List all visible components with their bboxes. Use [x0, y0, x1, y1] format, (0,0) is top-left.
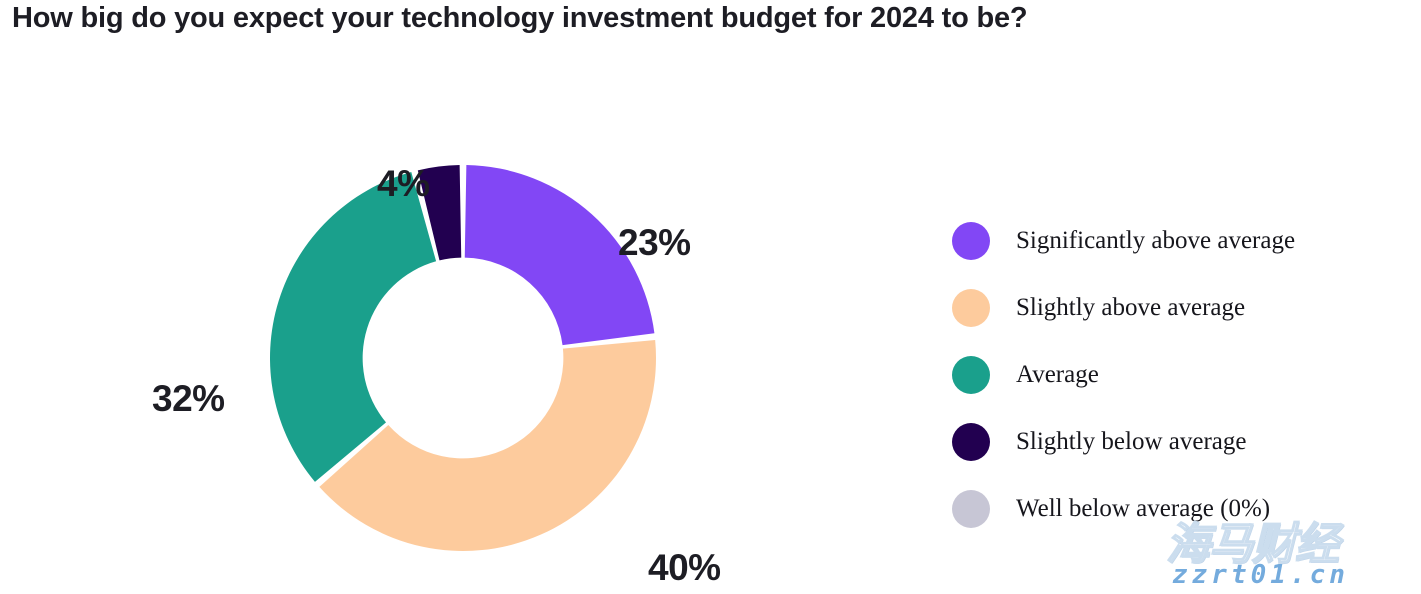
legend-item-label: Average [1016, 362, 1099, 387]
legend-item[interactable]: Significantly above average [952, 207, 1412, 274]
slice-value-label-slightly-below-average: 4% [377, 163, 429, 205]
legend-swatch-icon [952, 289, 990, 327]
page-title: How big do you expect your technology in… [12, 2, 1352, 35]
donut-slice[interactable]: Slightly above average 40% [319, 340, 656, 551]
legend-item[interactable]: Slightly below average [952, 408, 1412, 475]
slice-value-label-significantly-above-average: 23% [618, 222, 691, 264]
legend-item-label: Slightly above average [1016, 295, 1245, 320]
donut-slice-group: Significantly above average 23%Slightly … [270, 165, 656, 551]
chart-page: How big do you expect your technology in… [0, 0, 1421, 594]
legend-item[interactable]: Slightly above average [952, 274, 1412, 341]
donut-slice[interactable]: Average 32% [270, 172, 436, 482]
legend-item-label: Well below average (0%) [1016, 496, 1270, 521]
legend-item[interactable]: Well below average (0%) [952, 475, 1412, 542]
slice-value-label-average: 32% [152, 378, 225, 420]
slice-value-label-slightly-above-average: 40% [648, 547, 721, 589]
legend-swatch-icon [952, 356, 990, 394]
donut-chart-svg: Significantly above average 23%Slightly … [0, 60, 940, 594]
legend-swatch-icon [952, 222, 990, 260]
legend-swatch-icon [952, 490, 990, 528]
legend-item[interactable]: Average [952, 341, 1412, 408]
legend-item-label: Significantly above average [1016, 228, 1295, 253]
legend-item-label: Slightly below average [1016, 429, 1247, 454]
watermark-url-text: zzrt01.cn [1172, 560, 1349, 590]
chart-legend: Significantly above averageSlightly abov… [952, 207, 1412, 542]
donut-chart-plot-area: Significantly above average 23%Slightly … [0, 60, 940, 594]
legend-swatch-icon [952, 423, 990, 461]
